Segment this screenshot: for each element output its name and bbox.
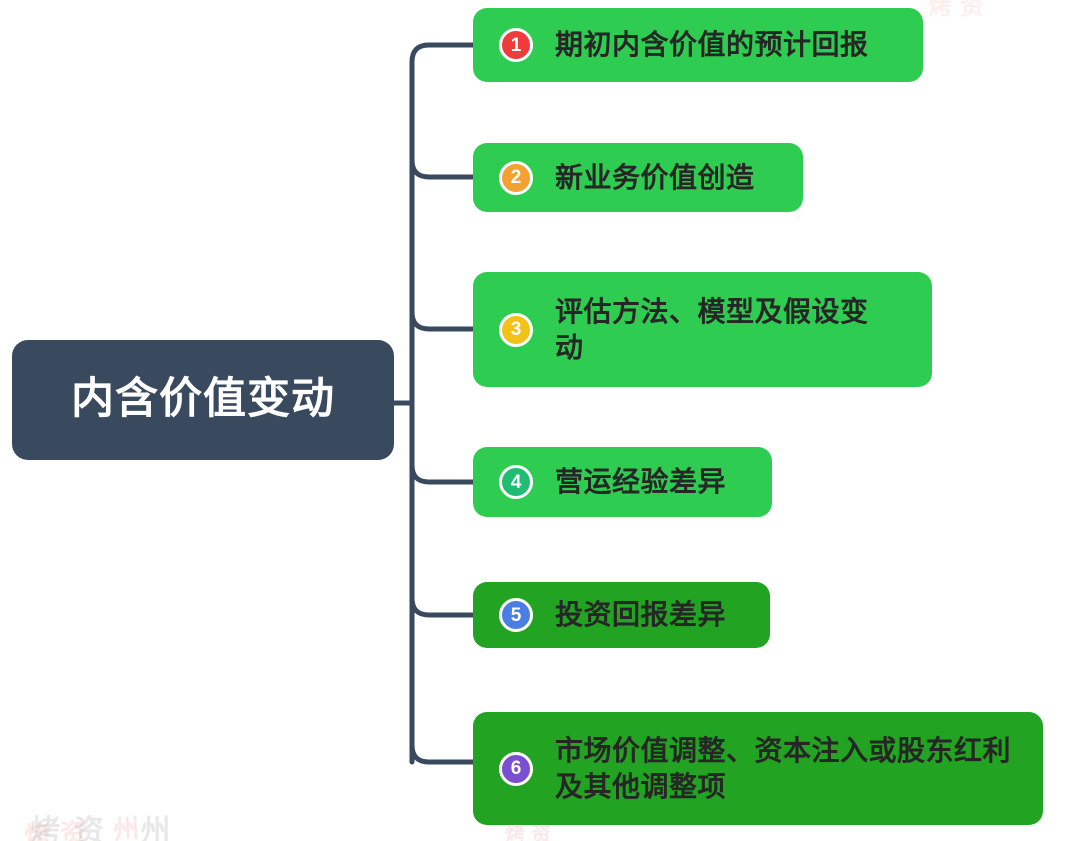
- branch-label-4: 营运经验差异: [555, 464, 726, 500]
- watermark-bottom-left: 烤资 州: [30, 806, 184, 841]
- branch-node-6[interactable]: 6 市场价值调整、资本注入或股东红利及其他调整项: [473, 712, 1043, 825]
- branch-badge-4: 4: [499, 465, 533, 499]
- branch-node-5[interactable]: 5 投资回报差异: [473, 582, 770, 648]
- root-node[interactable]: 内含价值变动: [12, 340, 394, 460]
- connector-branch-3: [412, 312, 473, 329]
- watermark-bottom-left-red: 烤资 州: [23, 808, 151, 841]
- branch-label-6: 市场价值调整、资本注入或股东红利及其他调整项: [555, 733, 1033, 805]
- branch-node-3[interactable]: 3 评估方法、模型及假设变动: [473, 272, 932, 387]
- branch-label-1: 期初内含价值的预计回报: [555, 27, 869, 63]
- branch-badge-2: 2: [499, 161, 533, 195]
- branch-badge-6: 6: [499, 752, 533, 786]
- branch-node-1[interactable]: 1 期初内含价值的预计回报: [473, 8, 923, 82]
- connector-branch-2: [412, 160, 473, 177]
- branch-node-2[interactable]: 2 新业务价值创造: [473, 143, 803, 212]
- branch-badge-3: 3: [499, 313, 533, 347]
- connector-branch-5: [412, 598, 473, 615]
- branch-label-3: 评估方法、模型及假设变动: [555, 294, 886, 366]
- branch-node-4[interactable]: 4 营运经验差异: [473, 447, 772, 517]
- connector-branch-4: [412, 465, 473, 482]
- branch-badge-5: 5: [499, 598, 533, 632]
- root-node-label: 内含价值变动: [71, 376, 335, 423]
- branch-label-2: 新业务价值创造: [555, 160, 755, 196]
- watermark-top-right: 烤资: [928, 0, 992, 21]
- branch-label-5: 投资回报差异: [555, 597, 726, 633]
- connector-branch-6: [412, 745, 473, 762]
- mindmap-canvas: 内含价值变动 1 期初内含价值的预计回报 2 新业务价值创造 3 评估方法、模型…: [0, 0, 1080, 841]
- branch-badge-1: 1: [499, 28, 533, 62]
- connector-branch-1: [412, 45, 473, 62]
